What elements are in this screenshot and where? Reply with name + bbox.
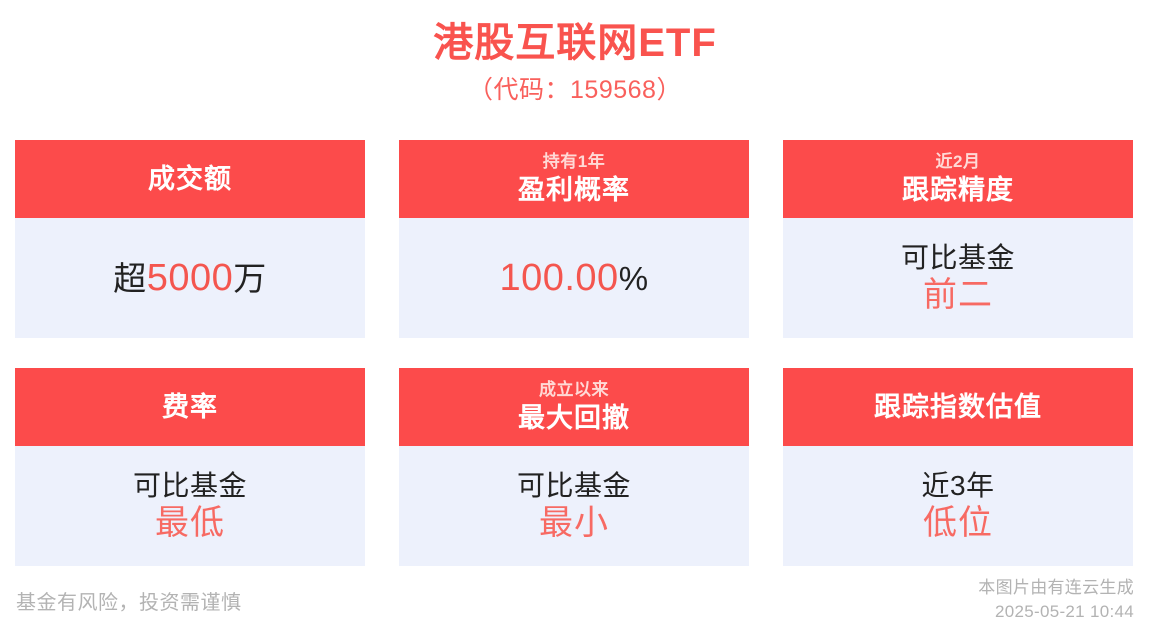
metric-card-fee-rate: 费率 可比基金 最低 — [15, 368, 365, 566]
card-header: 近2月 跟踪精度 — [783, 140, 1133, 218]
metric-context: 可比基金 — [517, 469, 631, 503]
card-header: 费率 — [15, 368, 365, 446]
metric-value: 超5000万 — [113, 256, 267, 301]
card-body: 100.00% — [399, 218, 749, 338]
metric-card-turnover: 成交额 超5000万 — [15, 140, 365, 338]
metric-card-profit-probability: 持有1年 盈利概率 100.00% — [399, 140, 749, 338]
page-title: 港股互联网ETF — [0, 18, 1150, 68]
metric-value-prefix: 超 — [113, 260, 147, 297]
fund-code-subtitle: （代码：159568） — [0, 72, 1150, 108]
card-header: 成交额 — [15, 140, 365, 218]
card-header-title: 盈利概率 — [518, 173, 630, 207]
card-header-title: 跟踪精度 — [902, 173, 1014, 207]
card-body: 可比基金 最小 — [399, 446, 749, 566]
metric-value-suffix: 万 — [233, 260, 267, 297]
metric-card-grid: 成交额 超5000万 持有1年 盈利概率 100.00% 近2月 — [15, 140, 1135, 566]
metric-value-suffix: % — [619, 260, 649, 297]
metric-value: 100.00% — [499, 256, 648, 301]
metric-value: 低位 — [923, 503, 993, 543]
risk-disclaimer: 基金有风险，投资需谨慎 — [16, 586, 242, 615]
card-header-title: 最大回撤 — [518, 401, 630, 435]
card-header-subtitle: 持有1年 — [543, 151, 605, 173]
metric-context: 近3年 — [921, 469, 994, 503]
card-header: 成立以来 最大回撤 — [399, 368, 749, 446]
card-header-subtitle: 近2月 — [936, 151, 981, 173]
metric-value: 最小 — [539, 503, 609, 543]
card-header-title: 跟踪指数估值 — [874, 390, 1042, 424]
metric-value: 最低 — [155, 503, 225, 543]
card-header-title: 成交额 — [148, 162, 232, 196]
metric-context: 可比基金 — [133, 469, 247, 503]
etf-summary-poster: 港股互联网ETF （代码：159568） 成交额 超5000万 持有1年 盈利概… — [0, 0, 1150, 632]
footer: 基金有风险，投资需谨慎 本图片由有连云生成 2025-05-21 10:44 — [0, 568, 1150, 632]
card-header: 跟踪指数估值 — [783, 368, 1133, 446]
card-header-title: 费率 — [162, 390, 218, 424]
metric-value-accent: 100.00 — [499, 257, 618, 299]
metric-card-index-valuation: 跟踪指数估值 近3年 低位 — [783, 368, 1133, 566]
card-body: 超5000万 — [15, 218, 365, 338]
metric-value-accent: 5000 — [147, 257, 234, 299]
generation-source: 本图片由有连云生成 — [978, 576, 1134, 600]
card-body: 可比基金 最低 — [15, 446, 365, 566]
card-header-subtitle: 成立以来 — [539, 379, 609, 401]
metric-card-tracking-accuracy: 近2月 跟踪精度 可比基金 前二 — [783, 140, 1133, 338]
title-block: 港股互联网ETF （代码：159568） — [0, 0, 1150, 108]
card-body: 可比基金 前二 — [783, 218, 1133, 338]
metric-context: 可比基金 — [901, 241, 1015, 275]
metric-value: 前二 — [923, 275, 993, 315]
generation-timestamp: 2025-05-21 10:44 — [978, 600, 1134, 624]
generation-info: 本图片由有连云生成 2025-05-21 10:44 — [978, 576, 1134, 624]
metric-card-max-drawdown: 成立以来 最大回撤 可比基金 最小 — [399, 368, 749, 566]
card-header: 持有1年 盈利概率 — [399, 140, 749, 218]
card-body: 近3年 低位 — [783, 446, 1133, 566]
